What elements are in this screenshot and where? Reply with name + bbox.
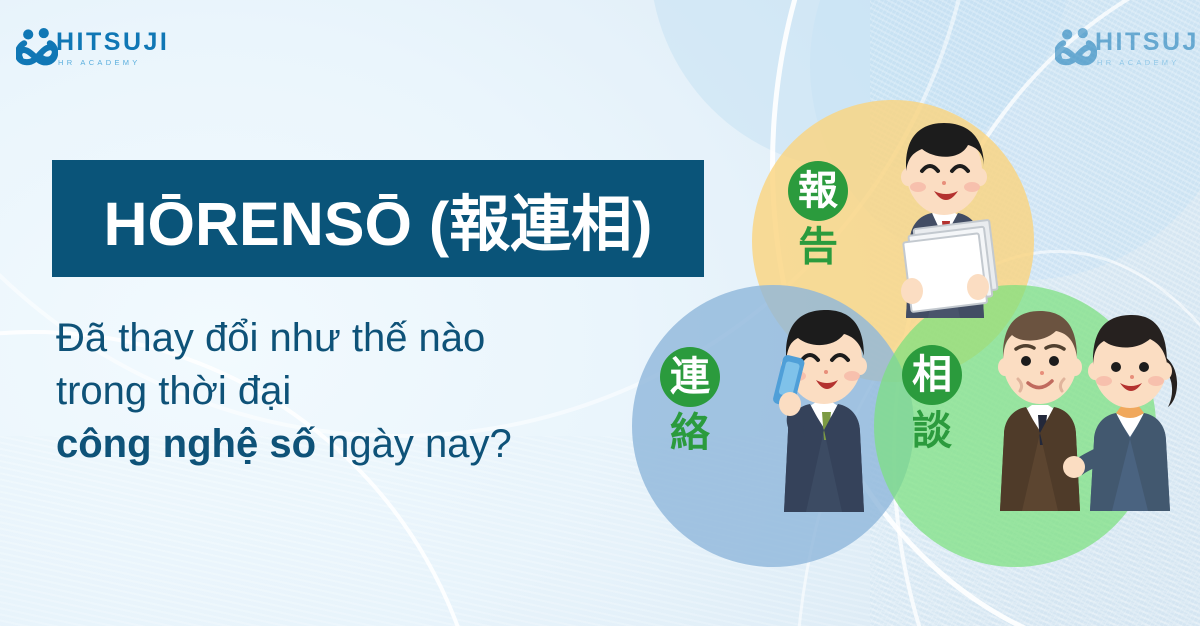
logo-tagline-text: HR ACADEMY	[1097, 59, 1200, 67]
slide-canvas: HITSUJI HR ACADEMY HITSUJI HR ACADEMY HŌ…	[0, 0, 1200, 626]
horenso-venn-diagram: 報 告 連 絡 相 談	[616, 95, 1200, 575]
page-title: HŌRENSŌ (報連相)	[103, 174, 652, 263]
subtitle-line-2: trong thời đại	[56, 365, 676, 418]
subtitle-line-1: Đã thay đổi như thế nào	[56, 312, 676, 365]
venn-label-sodan: 相 談	[902, 345, 962, 453]
subtitle-block: Đã thay đổi như thế nào trong thời đại c…	[56, 312, 676, 470]
venn-label-hokoku: 報 告	[788, 161, 848, 269]
logo-name-text: HITSUJI	[1095, 30, 1200, 55]
title-banner: HŌRENSŌ (報連相)	[52, 160, 704, 277]
kanji-plain-koku: 告	[788, 225, 848, 269]
hitsuji-infinity-icon	[16, 28, 58, 68]
kanji-plain-raku: 絡	[660, 411, 720, 455]
subtitle-emphasis: công nghệ số	[56, 422, 316, 466]
hitsuji-infinity-icon	[1055, 28, 1097, 68]
logo-top-right[interactable]: HITSUJI HR ACADEMY	[1055, 28, 1200, 68]
kanji-badge-ho: 報	[788, 161, 848, 221]
kanji-plain-dan: 談	[902, 409, 962, 453]
illustration-man-on-phone	[744, 300, 904, 515]
logo-tagline-text: HR ACADEMY	[58, 59, 169, 67]
subtitle-line-3-rest: ngày nay?	[316, 422, 512, 466]
kanji-badge-ren: 連	[660, 347, 720, 407]
kanji-badge-so: 相	[902, 345, 962, 405]
illustration-man-holding-documents	[864, 113, 1024, 323]
logo-top-left[interactable]: HITSUJI HR ACADEMY	[16, 28, 169, 68]
venn-label-renraku: 連 絡	[660, 347, 720, 455]
subtitle-line-3: công nghệ số ngày nay?	[56, 418, 676, 471]
logo-name-text: HITSUJI	[56, 30, 169, 55]
illustration-two-people-consulting	[986, 295, 1186, 515]
